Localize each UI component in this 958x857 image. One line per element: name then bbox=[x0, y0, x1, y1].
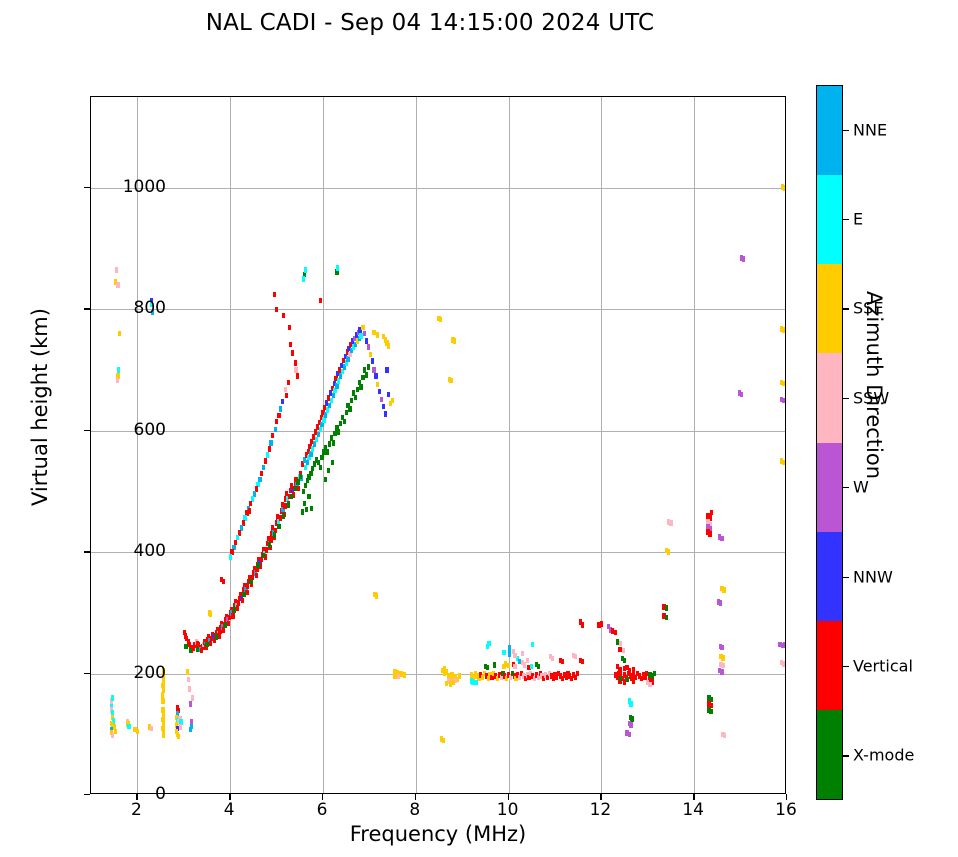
echo-point bbox=[523, 662, 526, 667]
echo-point bbox=[721, 663, 724, 668]
x-tick-mark bbox=[322, 794, 323, 800]
echo-point bbox=[187, 677, 190, 682]
echo-point bbox=[518, 659, 521, 664]
y-tick-label: 600 bbox=[46, 420, 166, 440]
y-tick-label: 800 bbox=[46, 298, 166, 318]
echo-point bbox=[403, 672, 406, 677]
echo-point bbox=[322, 417, 325, 422]
echo-point bbox=[268, 542, 271, 547]
echo-point bbox=[306, 460, 309, 465]
colorbar-tick-mark bbox=[843, 487, 849, 488]
echo-point bbox=[376, 382, 379, 387]
x-tick-mark bbox=[600, 794, 601, 800]
colorbar-label: Azimuth Direction bbox=[862, 255, 886, 515]
echo-point bbox=[189, 701, 192, 706]
echo-point bbox=[296, 486, 299, 491]
x-tick-label: 2 bbox=[96, 800, 176, 820]
echo-point bbox=[348, 406, 351, 411]
echo-point bbox=[189, 727, 192, 732]
echo-point bbox=[632, 679, 635, 684]
echo-point bbox=[607, 624, 610, 629]
echo-point bbox=[304, 483, 307, 488]
echo-point bbox=[614, 630, 617, 635]
echo-point bbox=[291, 350, 294, 355]
x-axis-label: Frequency (MHz) bbox=[90, 822, 786, 846]
echo-point bbox=[288, 325, 291, 330]
echo-point bbox=[269, 440, 272, 445]
echo-point bbox=[531, 642, 534, 647]
echo-point bbox=[513, 664, 516, 669]
echo-point bbox=[224, 622, 227, 627]
echo-point bbox=[236, 605, 239, 610]
echo-point bbox=[336, 265, 339, 270]
y-tick-mark bbox=[84, 187, 90, 188]
colorbar-tick-mark bbox=[843, 398, 849, 399]
colorbar-segment-e bbox=[817, 175, 842, 264]
echo-point bbox=[196, 647, 199, 652]
echo-point bbox=[111, 695, 114, 700]
echo-point bbox=[302, 276, 305, 281]
echo-point bbox=[231, 613, 234, 618]
echo-point bbox=[397, 674, 400, 679]
colorbar-tick-mark bbox=[843, 577, 849, 578]
echo-point bbox=[179, 724, 182, 729]
echo-point bbox=[161, 698, 164, 703]
echo-point bbox=[209, 611, 212, 616]
echo-point bbox=[184, 644, 187, 649]
echo-point bbox=[783, 642, 785, 647]
echo-point bbox=[127, 724, 130, 729]
echo-point bbox=[665, 605, 668, 610]
echo-point bbox=[508, 645, 511, 650]
echo-point bbox=[502, 650, 505, 655]
echo-point bbox=[372, 367, 375, 372]
echo-point bbox=[619, 676, 622, 681]
echo-point bbox=[387, 392, 390, 397]
echo-point bbox=[720, 536, 723, 541]
echo-point bbox=[333, 388, 336, 393]
colorbar-segment-ssw bbox=[817, 353, 842, 442]
echo-point bbox=[307, 494, 310, 499]
echo-point bbox=[326, 449, 329, 454]
echo-point bbox=[233, 607, 236, 612]
echo-point bbox=[376, 332, 379, 337]
echo-point bbox=[285, 393, 288, 398]
echo-point bbox=[324, 477, 327, 482]
echo-point bbox=[311, 446, 314, 451]
echo-point bbox=[337, 378, 340, 383]
echo-point bbox=[442, 738, 445, 743]
echo-point bbox=[117, 367, 120, 372]
echo-point bbox=[305, 507, 308, 512]
echo-point bbox=[116, 282, 119, 287]
echo-point bbox=[284, 387, 287, 392]
echo-point bbox=[268, 446, 271, 451]
echo-point bbox=[287, 502, 290, 507]
echo-point bbox=[507, 663, 510, 668]
echo-point bbox=[310, 506, 313, 511]
colorbar-segment-vertical bbox=[817, 621, 842, 710]
echo-point bbox=[304, 465, 307, 470]
echo-point bbox=[242, 592, 245, 597]
echo-point bbox=[346, 356, 349, 361]
echo-point bbox=[275, 307, 278, 312]
echo-point bbox=[630, 716, 633, 721]
echo-point bbox=[629, 701, 632, 706]
echo-point bbox=[551, 656, 554, 661]
y-axis-label: Virtual height (km) bbox=[28, 177, 52, 637]
echo-point bbox=[271, 433, 274, 438]
echo-point bbox=[616, 664, 619, 669]
echo-point bbox=[327, 468, 330, 473]
colorbar-tick-mark bbox=[843, 666, 849, 667]
echo-point bbox=[486, 665, 489, 670]
echo-point bbox=[215, 634, 218, 639]
echo-point bbox=[313, 441, 316, 446]
echo-point bbox=[264, 458, 267, 463]
echo-point bbox=[449, 378, 452, 383]
echo-point bbox=[521, 651, 524, 656]
echo-point bbox=[339, 373, 342, 378]
echo-point bbox=[382, 404, 385, 409]
x-tick-label: 16 bbox=[746, 800, 826, 820]
echo-point bbox=[722, 587, 725, 592]
x-tick-mark bbox=[229, 794, 230, 800]
plot-area bbox=[90, 96, 786, 794]
echo-point bbox=[162, 688, 165, 693]
echo-point bbox=[309, 471, 312, 476]
echo-point bbox=[742, 256, 745, 261]
echo-point bbox=[623, 658, 626, 663]
echo-point bbox=[302, 489, 305, 494]
colorbar bbox=[816, 85, 843, 800]
echo-point bbox=[259, 563, 262, 568]
echo-point bbox=[222, 579, 225, 584]
echo-point bbox=[378, 389, 381, 394]
echo-point bbox=[326, 407, 329, 412]
echo-point bbox=[136, 729, 139, 734]
echo-point bbox=[289, 342, 292, 347]
x-tick-mark bbox=[415, 794, 416, 800]
echo-point bbox=[186, 669, 189, 674]
echo-point bbox=[453, 338, 456, 343]
echo-point bbox=[374, 373, 377, 378]
echo-point bbox=[626, 677, 629, 682]
echo-point bbox=[669, 520, 672, 525]
echo-point bbox=[783, 185, 785, 190]
echo-point bbox=[275, 419, 278, 424]
echo-point bbox=[452, 680, 455, 685]
echo-point bbox=[115, 267, 118, 272]
echo-point bbox=[273, 292, 276, 297]
echo-point bbox=[648, 682, 651, 687]
echo-point bbox=[255, 573, 258, 578]
figure-root: NAL CADI - Sep 04 14:15:00 2024 UTC Virt… bbox=[0, 0, 958, 857]
figure-title: NAL CADI - Sep 04 14:15:00 2024 UTC bbox=[0, 10, 860, 36]
y-tick-mark bbox=[84, 308, 90, 309]
colorbar-tick-mark bbox=[843, 130, 849, 131]
echo-point bbox=[384, 411, 387, 416]
colorbar-tick-label-x-mode: X-mode bbox=[853, 746, 914, 765]
echo-point bbox=[709, 709, 712, 714]
echo-point bbox=[217, 633, 220, 638]
colorbar-tick-label-vertical: Vertical bbox=[853, 656, 913, 675]
echo-point bbox=[332, 440, 335, 445]
echo-point bbox=[380, 397, 383, 402]
echo-point bbox=[241, 598, 244, 603]
echo-point bbox=[249, 579, 252, 584]
echo-point bbox=[274, 427, 277, 432]
echo-point bbox=[782, 661, 785, 666]
echo-point bbox=[365, 372, 368, 377]
echo-point bbox=[470, 678, 473, 683]
x-tick-label: 14 bbox=[653, 800, 733, 820]
echo-point bbox=[719, 600, 722, 605]
echo-point bbox=[337, 429, 340, 434]
y-tick-label: 200 bbox=[46, 663, 166, 683]
echo-point bbox=[622, 648, 625, 653]
echo-point bbox=[260, 471, 263, 476]
echo-point bbox=[320, 422, 323, 427]
y-tick-label: 400 bbox=[46, 541, 166, 561]
x-tick-mark bbox=[693, 794, 694, 800]
echo-point bbox=[319, 298, 322, 303]
echo-point bbox=[319, 427, 322, 432]
colorbar-tick-label-nne: NNE bbox=[853, 120, 887, 139]
y-tick-mark bbox=[84, 673, 90, 674]
echo-point bbox=[294, 367, 297, 372]
echo-point bbox=[266, 452, 269, 457]
echo-point bbox=[723, 733, 726, 738]
echo-point bbox=[385, 367, 388, 372]
echo-point bbox=[782, 381, 785, 386]
echo-point bbox=[611, 628, 614, 633]
echo-point bbox=[294, 486, 297, 491]
echo-point bbox=[371, 358, 374, 363]
echo-point bbox=[162, 733, 165, 738]
echo-point bbox=[315, 437, 318, 442]
echo-point bbox=[487, 641, 490, 646]
echo-point bbox=[513, 653, 516, 658]
colorbar-segment-x-mode bbox=[817, 710, 842, 799]
echo-point bbox=[118, 331, 121, 336]
echo-point bbox=[245, 590, 248, 595]
colorbar-tick-label-nnw: NNW bbox=[853, 567, 893, 586]
echo-point bbox=[343, 419, 346, 424]
echo-point bbox=[526, 658, 529, 663]
echo-point bbox=[579, 619, 582, 624]
colorbar-tick-mark bbox=[843, 219, 849, 220]
colorbar-segment-w bbox=[817, 443, 842, 532]
echo-point bbox=[328, 403, 331, 408]
echo-point bbox=[574, 654, 577, 659]
y-tick-mark bbox=[84, 794, 90, 795]
echo-point bbox=[365, 338, 368, 343]
echo-point bbox=[191, 695, 194, 700]
echo-point bbox=[537, 664, 540, 669]
echo-point bbox=[576, 671, 579, 676]
echo-point bbox=[296, 479, 299, 484]
echo-point bbox=[150, 726, 153, 731]
x-tick-label: 6 bbox=[282, 800, 362, 820]
echo-point bbox=[301, 509, 304, 514]
y-tick-label: 1000 bbox=[46, 177, 166, 197]
echo-point bbox=[474, 680, 477, 685]
echo-point bbox=[369, 352, 372, 357]
echo-point bbox=[282, 513, 285, 518]
echo-point bbox=[290, 494, 293, 499]
echo-point bbox=[227, 621, 230, 626]
data-points-layer bbox=[91, 97, 785, 793]
echo-point bbox=[262, 553, 265, 558]
echo-point bbox=[299, 474, 302, 479]
echo-point bbox=[319, 465, 322, 470]
echo-point bbox=[282, 313, 285, 318]
echo-point bbox=[320, 455, 323, 460]
echo-point bbox=[303, 501, 306, 506]
echo-point bbox=[625, 665, 628, 670]
echo-point bbox=[458, 673, 461, 678]
echo-point bbox=[205, 642, 208, 647]
x-tick-mark bbox=[786, 794, 787, 800]
echo-point bbox=[439, 317, 442, 322]
colorbar-tick-mark bbox=[843, 755, 849, 756]
echo-point bbox=[720, 669, 723, 674]
echo-point bbox=[665, 615, 668, 620]
colorbar-segment-nnw bbox=[817, 532, 842, 621]
echo-point bbox=[600, 621, 603, 626]
echo-point bbox=[367, 364, 370, 369]
echo-point bbox=[359, 384, 362, 389]
y-tick-mark bbox=[84, 551, 90, 552]
echo-point bbox=[619, 641, 622, 646]
echo-point bbox=[530, 664, 533, 669]
echo-point bbox=[229, 554, 232, 559]
echo-point bbox=[279, 406, 282, 411]
echo-point bbox=[782, 327, 785, 332]
echo-point bbox=[782, 460, 785, 465]
echo-point bbox=[248, 508, 251, 513]
echo-point bbox=[331, 460, 334, 465]
echo-point bbox=[287, 380, 290, 385]
echo-point bbox=[581, 659, 584, 664]
echo-point bbox=[114, 729, 117, 734]
echo-point bbox=[387, 343, 390, 348]
echo-point bbox=[294, 360, 297, 365]
colorbar-tick-label-e: E bbox=[853, 210, 863, 229]
echo-point bbox=[281, 399, 284, 404]
echo-point bbox=[324, 412, 327, 417]
echo-point bbox=[443, 666, 446, 671]
echo-point bbox=[367, 344, 370, 349]
echo-point bbox=[628, 732, 631, 737]
x-tick-label: 4 bbox=[189, 800, 269, 820]
colorbar-segment-nne bbox=[817, 86, 842, 175]
echo-point bbox=[222, 627, 225, 632]
echo-point bbox=[161, 683, 164, 688]
echo-point bbox=[721, 655, 724, 660]
x-tick-mark bbox=[508, 794, 509, 800]
echo-point bbox=[493, 662, 496, 667]
x-tick-label: 10 bbox=[468, 800, 548, 820]
echo-point bbox=[277, 524, 280, 529]
echo-point bbox=[667, 549, 670, 554]
echo-point bbox=[720, 645, 723, 650]
echo-point bbox=[330, 398, 333, 403]
echo-point bbox=[363, 331, 366, 336]
echo-point bbox=[375, 593, 378, 598]
echo-point bbox=[296, 373, 299, 378]
echo-point bbox=[304, 267, 307, 272]
echo-point bbox=[632, 667, 635, 672]
echo-point bbox=[354, 395, 357, 400]
echo-point bbox=[561, 659, 564, 664]
colorbar-segment-sse bbox=[817, 264, 842, 353]
echo-point bbox=[391, 398, 394, 403]
echo-point bbox=[653, 671, 656, 676]
x-tick-mark bbox=[136, 794, 137, 800]
echo-point bbox=[361, 325, 364, 330]
echo-point bbox=[188, 686, 191, 691]
colorbar-tick-mark bbox=[843, 308, 849, 309]
echo-point bbox=[277, 413, 280, 418]
x-tick-label: 12 bbox=[560, 800, 640, 820]
echo-point bbox=[309, 451, 312, 456]
echo-point bbox=[317, 432, 320, 437]
echo-point bbox=[335, 383, 338, 388]
echo-point bbox=[708, 531, 711, 536]
echo-point bbox=[782, 398, 785, 403]
echo-point bbox=[262, 465, 265, 470]
echo-point bbox=[189, 648, 192, 653]
echo-point bbox=[116, 378, 119, 383]
echo-point bbox=[740, 392, 743, 397]
echo-point bbox=[256, 563, 259, 568]
x-tick-label: 8 bbox=[375, 800, 455, 820]
echo-point bbox=[710, 510, 713, 515]
echo-point bbox=[177, 734, 180, 739]
echo-point bbox=[273, 532, 276, 537]
echo-point bbox=[629, 722, 632, 727]
echo-point bbox=[332, 393, 335, 398]
y-tick-mark bbox=[84, 430, 90, 431]
